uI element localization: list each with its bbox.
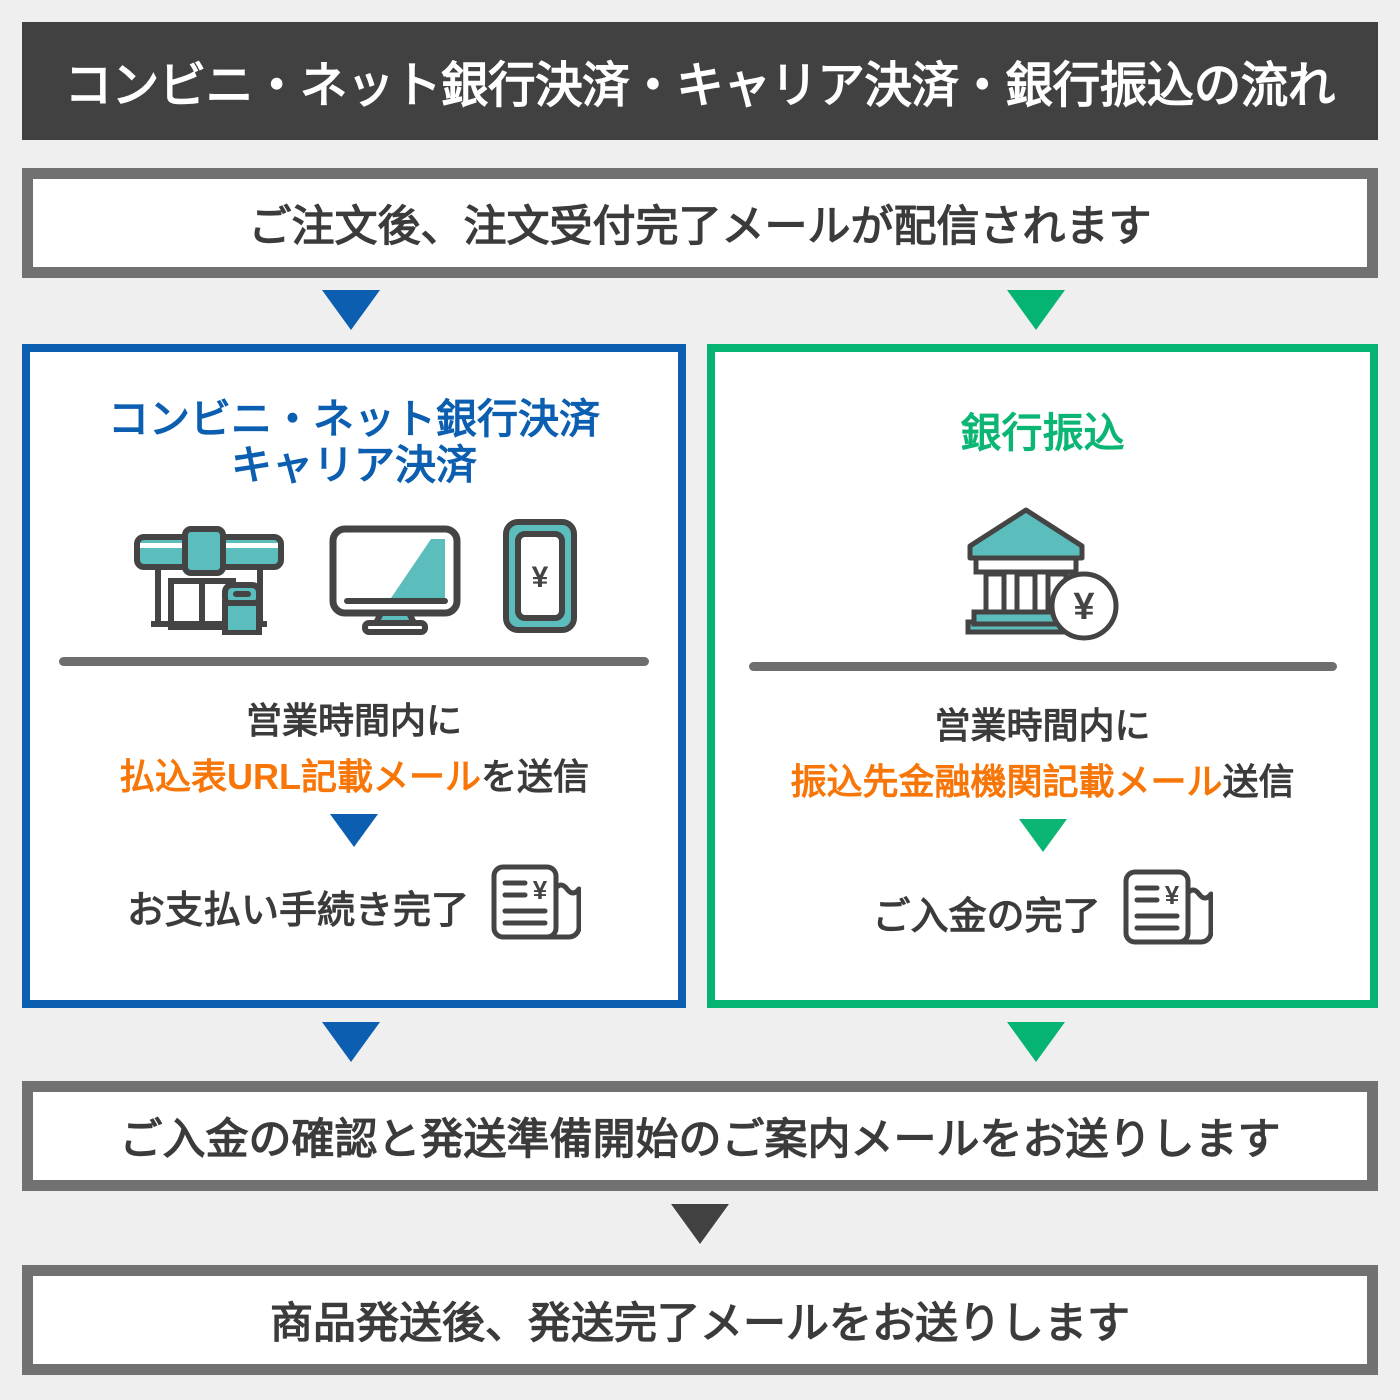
panel-conveni-note-line2: 払込表URL記載メールを送信 [30,748,678,800]
page-title: コンビニ・ネット銀行決済・キャリア決済・銀行振込の流れ [65,46,1335,117]
panel-bank-result-label: ご入金の完了 [872,885,1100,940]
panel-conveni-note-tail: を送信 [481,756,589,797]
svg-text:¥: ¥ [1164,880,1179,910]
panel-conveni-title-line2: キャリア決済 [30,442,678,488]
svg-text:¥: ¥ [1073,586,1094,628]
panel-bank-note-highlight: 振込先金融機関記載メール [790,761,1222,802]
step-payment-confirmation-text: ご入金の確認と発送準備開始のご案内メールをお送りします [120,1105,1281,1167]
panel-conveni-result-row: お支払い手続き完了 ¥ [30,859,678,955]
panel-bank-result-row: ご入金の完了 ¥ [715,864,1370,960]
panel-conveni-title: コンビニ・ネット銀行決済 キャリア決済 [30,396,678,489]
arrow-down-from-conveni-panel-icon [322,1022,380,1062]
step-shipping-confirmation-box: 商品発送後、発送完了メールをお送りします [22,1265,1378,1375]
svg-text:¥: ¥ [532,561,549,594]
panel-bank-title-line1: 銀行振込 [715,410,1370,456]
step-order-confirmation-box: ご注文後、注文受付完了メールが配信されます [22,168,1378,278]
panel-conveni-payment: コンビニ・ネット銀行決済 キャリア決済 [22,344,686,1008]
arrow-down-to-bank-panel-icon [1007,290,1065,330]
panel-conveni-note-highlight: 払込表URL記載メール [119,756,481,797]
payment-flow-diagram: コンビニ・ネット銀行決済・キャリア決済・銀行振込の流れ ご注文後、注文受付完了メ… [0,0,1400,1400]
panel-bank-note-tail: 送信 [1223,761,1295,802]
desktop-monitor-icon [327,523,463,635]
panel-conveni-arrow-wrap [30,814,678,847]
panel-bank-note-line2: 振込先金融機関記載メール送信 [715,753,1370,805]
step-shipping-confirmation-text: 商品発送後、発送完了メールをお送りします [270,1289,1130,1351]
arrow-down-bank-icon [1019,819,1067,852]
panel-bank-icon-row: ¥ [715,500,1370,650]
bank-building-yen-icon: ¥ [958,500,1128,650]
panel-bank-transfer: 銀行振込 ¥ [707,344,1378,1008]
panel-conveni-title-line1: コンビニ・ネット銀行決済 [30,396,678,442]
smartphone-yen-icon: ¥ [501,517,579,635]
panel-bank-title: 銀行振込 [715,410,1370,456]
panel-conveni-divider [59,657,649,666]
arrow-down-from-bank-panel-icon [1007,1022,1065,1062]
arrow-down-to-conveni-panel-icon [322,290,380,330]
convenience-store-icon [129,523,289,635]
panel-conveni-icon-row: ¥ [30,515,678,635]
diagram-title-bar: コンビニ・ネット銀行決済・キャリア決済・銀行振込の流れ [22,22,1378,140]
step-order-confirmation-text: ご注文後、注文受付完了メールが配信されます [249,192,1152,254]
panel-bank-note-line1: 営業時間内に [715,697,1370,749]
panel-conveni-result-label: お支払い手続き完了 [127,879,469,934]
invoice-yen-icon: ¥ [1117,864,1213,960]
panel-bank-arrow-wrap [715,819,1370,852]
arrow-down-conveni-icon [330,814,378,847]
panel-bank-divider [749,662,1337,671]
step-payment-confirmation-box: ご入金の確認と発送準備開始のご案内メールをお送りします [22,1081,1378,1191]
invoice-yen-icon: ¥ [485,859,581,955]
svg-text:¥: ¥ [533,875,548,905]
panel-conveni-note-line1: 営業時間内に [30,692,678,744]
arrow-down-to-shipping-icon [671,1204,729,1244]
